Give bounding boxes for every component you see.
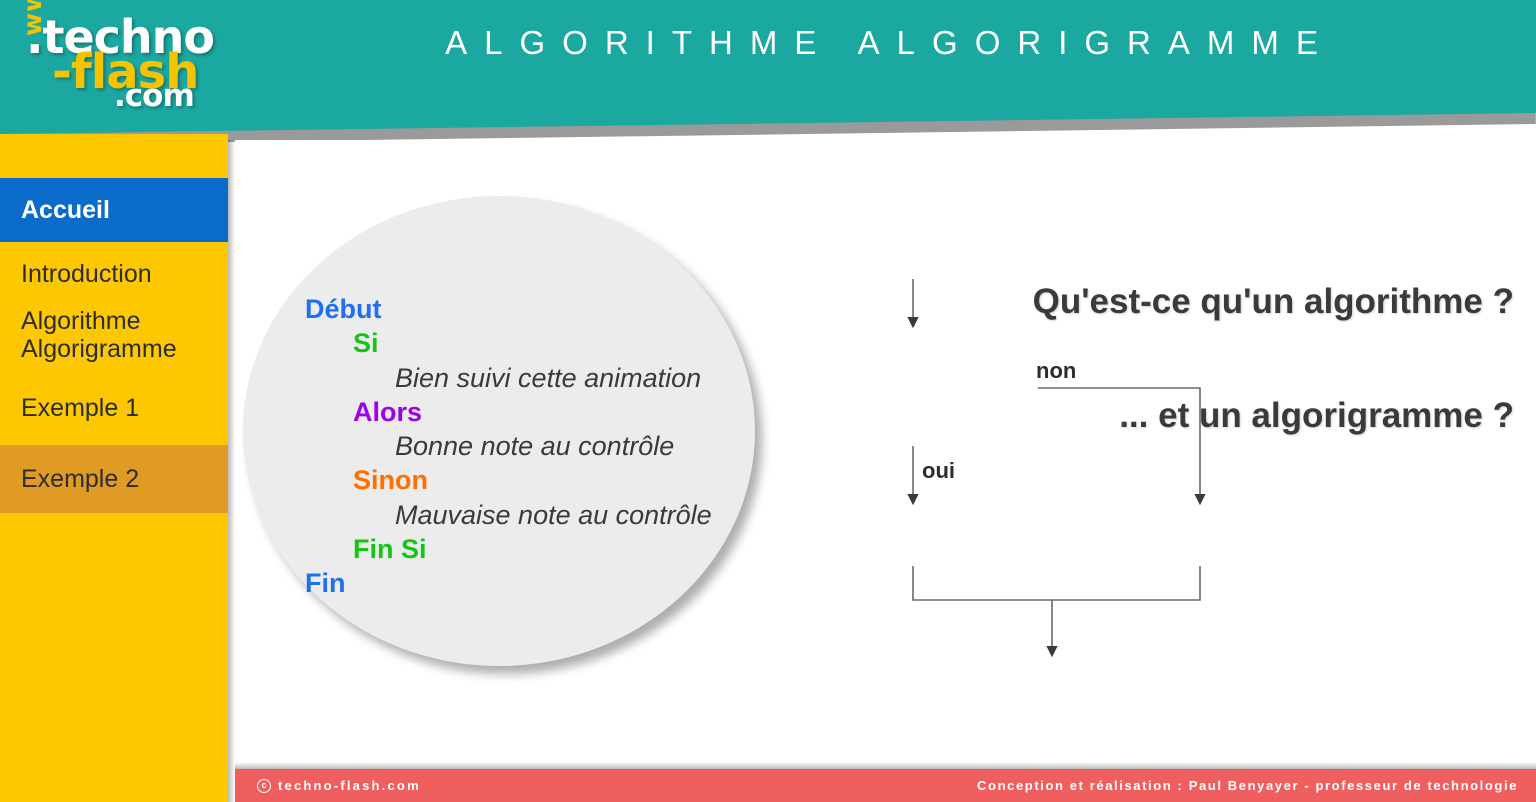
footer: c techno-flash.com Conception et réalisa… xyxy=(235,769,1536,802)
logo-com-text: .com xyxy=(114,78,194,114)
sidebar-footer-strip xyxy=(0,769,228,802)
page-title: ALGORITHME ALGORIGRAMME xyxy=(270,24,1510,62)
flowchart-edge-label-oui: oui xyxy=(922,458,955,484)
footer-site-credit: c techno-flash.com xyxy=(257,778,421,793)
logo[interactable]: www .techno -flash .com xyxy=(10,8,225,118)
footer-site-label: techno-flash.com xyxy=(278,778,421,793)
flowchart-connectors xyxy=(0,0,1536,802)
flowchart-edge-label-non: non xyxy=(1036,358,1076,384)
footer-author-credit: Conception et réalisation : Paul Benyaye… xyxy=(977,778,1518,793)
slide-root: ALGORITHME ALGORIGRAMME www .techno -fla… xyxy=(0,0,1536,802)
copyright-icon: c xyxy=(257,779,271,793)
